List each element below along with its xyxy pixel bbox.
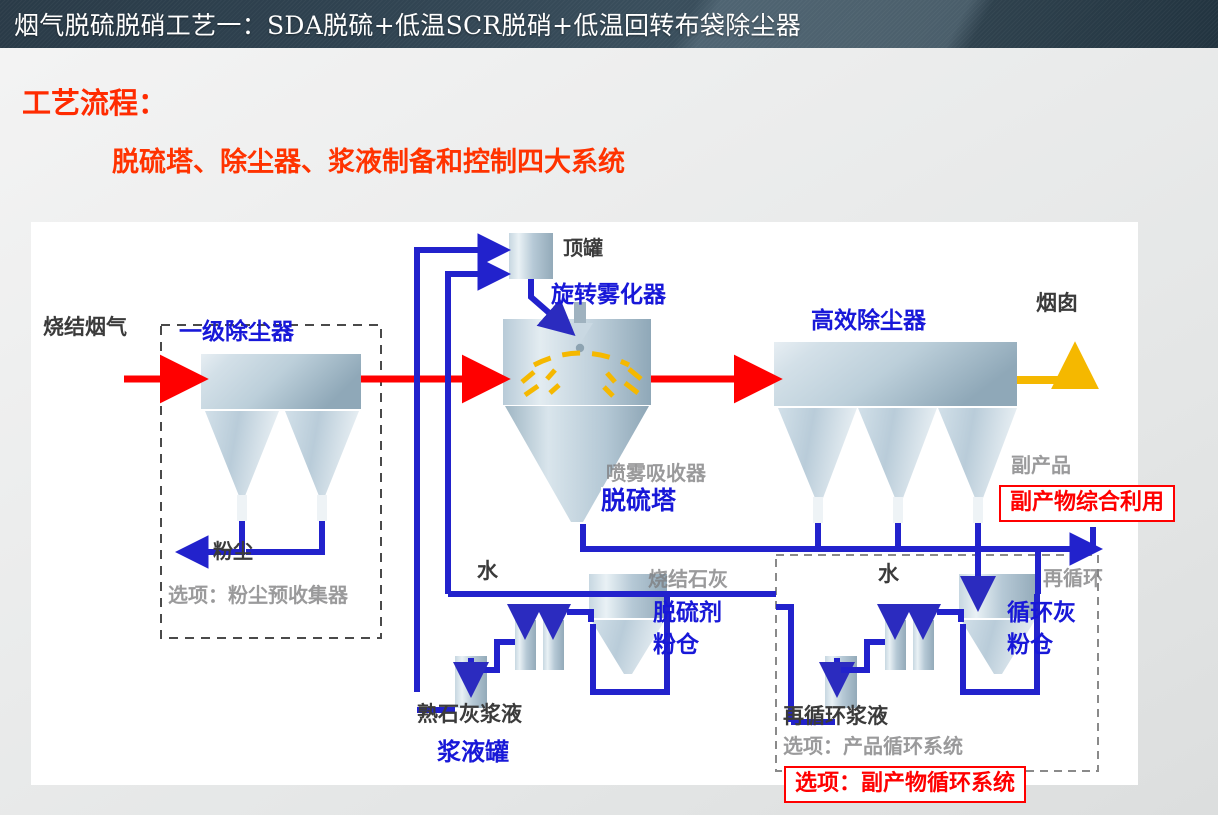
label-water-left: 水	[477, 559, 498, 583]
label-recycle-ash-silo-line2: 粉仓	[1007, 632, 1053, 658]
label-slaked-lime-slurry: 熟石灰浆液	[417, 702, 522, 726]
label-dust-precollector: 选项：粉尘预收集器	[168, 584, 348, 607]
label-top-tank: 顶罐	[563, 237, 603, 260]
process-flow-diagram: 烧结烟气 一级除尘器 粉尘 选项：粉尘预收集器 顶罐 旋转雾化器 喷雾吸收器 脱…	[31, 222, 1138, 785]
high-efficiency-collector-graphic	[774, 342, 1017, 523]
label-desulfurization-tower: 脱硫塔	[601, 487, 676, 516]
label-primary-collector: 一级除尘器	[179, 319, 294, 345]
label-dust: 粉尘	[213, 540, 253, 563]
label-product-recycle-system: 选项：产品循环系统	[783, 735, 963, 758]
label-quicklime: 烧结石灰	[648, 568, 728, 591]
process-flow-heading: 工艺流程：	[22, 80, 167, 122]
process-flow-subheading: 脱硫塔、除尘器、浆液制备和控制四大系统	[112, 140, 625, 179]
label-high-efficiency-collector: 高效除尘器	[811, 308, 926, 334]
label-recycle: 再循环	[1043, 567, 1103, 590]
label-slurry-tank: 浆液罐	[437, 739, 509, 767]
label-desulfurant-silo-line2: 粉仓	[653, 632, 699, 658]
label-byproduct: 副产品	[1011, 454, 1071, 477]
label-byproduct-recycle-system: 选项：副产物循环系统	[784, 766, 1026, 803]
chimney-outlet-path	[1017, 350, 1075, 380]
slide-header-bar: 烟气脱硫脱硝工艺一：SDA脱硫+低温SCR脱硝+低温回转布袋除尘器	[0, 0, 1218, 48]
recycle-slurry-tank-graphic	[825, 620, 934, 708]
label-inlet-gas: 烧结烟气	[43, 315, 127, 339]
label-recycle-ash-silo-line1: 循环灰	[1007, 600, 1076, 626]
label-rotary-atomizer: 旋转雾化器	[551, 282, 666, 308]
label-byproduct-utilization: 副产物综合利用	[999, 485, 1175, 522]
label-desulfurant-silo-line1: 脱硫剂	[653, 600, 722, 626]
primary-dust-collector-graphic	[201, 354, 361, 521]
label-spray-absorber: 喷雾吸收器	[606, 462, 706, 485]
label-chimney: 烟囱	[1036, 291, 1078, 315]
slide-title: 烟气脱硫脱硝工艺一：SDA脱硫+低温SCR脱硝+低温回转布袋除尘器	[14, 6, 801, 42]
top-tank-graphic	[509, 233, 553, 279]
label-water-right: 水	[878, 562, 899, 586]
label-recycle-slurry: 再循环浆液	[783, 704, 888, 728]
